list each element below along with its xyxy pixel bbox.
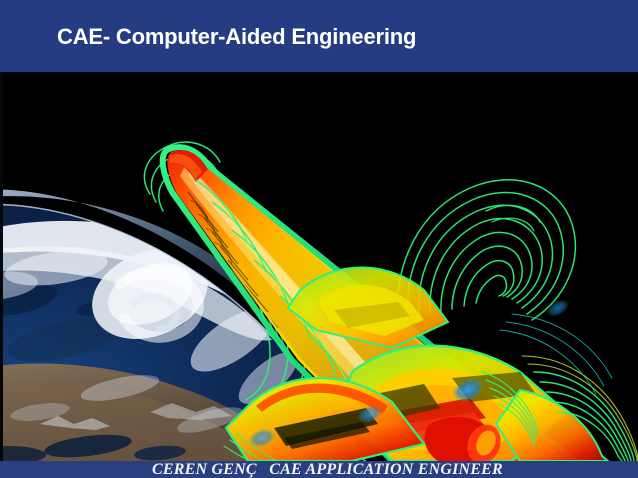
cfd-reentry-illustration (0, 72, 638, 461)
page-title: CAE- Computer-Aided Engineering (57, 26, 416, 48)
slide-image (0, 72, 638, 461)
slide-header-band: CAE- Computer-Aided Engineering (0, 0, 638, 72)
presentation-slide: CAE- Computer-Aided Engineering CEREN GE… (0, 0, 638, 478)
footer-credit: CEREN GENÇ CAE APPLICATION ENGINEER (152, 461, 503, 478)
slide-footer-band: CEREN GENÇ CAE APPLICATION ENGINEER (0, 461, 638, 478)
image-left-gutter (0, 72, 3, 461)
